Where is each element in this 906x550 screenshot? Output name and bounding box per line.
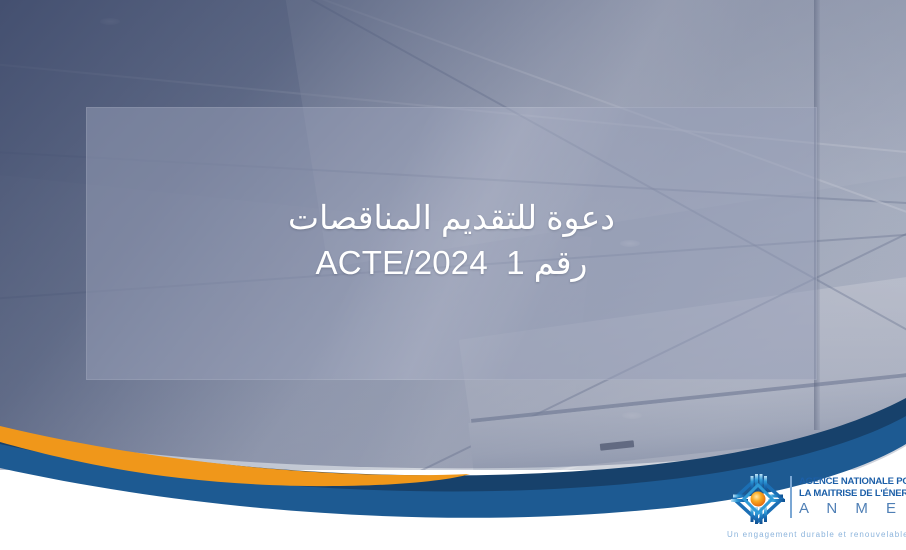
logo-divider <box>790 476 792 518</box>
title-line-1: دعوة للتقديم المناقصات <box>288 196 615 240</box>
ceiling-light <box>100 18 120 25</box>
title-block: دعوة للتقديم المناقصات رقم 1 ACTE/2024 <box>288 196 615 290</box>
soffit-edge <box>471 373 906 423</box>
logo-line-1: AGENCE NATIONALE POUR <box>799 476 906 488</box>
logo-tagline: Un engagement durable et renouvelable <box>727 530 903 539</box>
slide-canvas: دعوة للتقديم المناقصات رقم 1 ACTE/2024 <box>0 0 906 550</box>
ceiling-light <box>622 412 642 419</box>
logo-core-circle <box>751 492 766 507</box>
logo-wordmark: AGENCE NATIONALE POUR LA MAITRISE DE L'É… <box>799 474 906 517</box>
title-line-2: رقم 1 ACTE/2024 <box>288 241 615 285</box>
ceiling-soffit <box>468 377 906 470</box>
title-panel: دعوة للتقديم المناقصات رقم 1 ACTE/2024 <box>86 107 817 380</box>
anme-diamond-logo-icon <box>730 474 786 524</box>
ceiling-vent <box>600 440 635 451</box>
logo-line-2: LA MAITRISE DE L'ÉNERGIE <box>799 488 906 500</box>
logo-acronym: A N M E <box>799 500 906 517</box>
